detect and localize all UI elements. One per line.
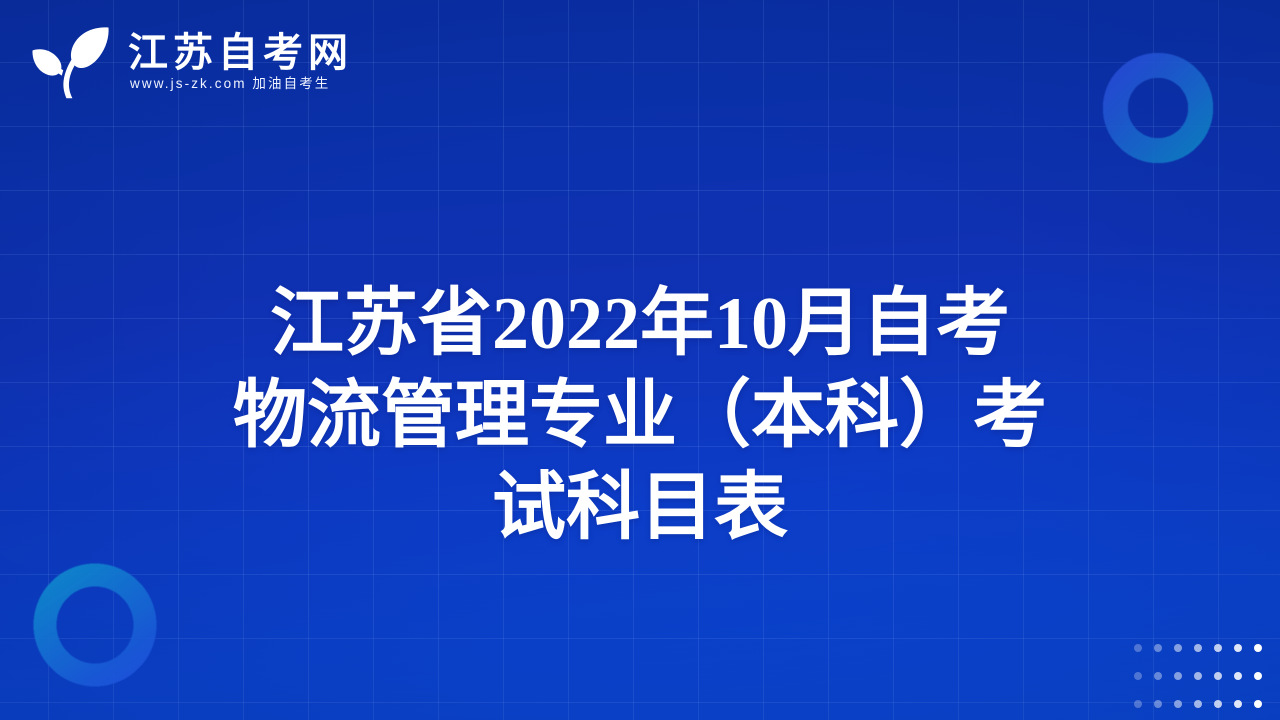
dot-grid-dot (1154, 672, 1162, 680)
dot-grid-dot (1214, 700, 1222, 708)
decorative-ring-top-right (1080, 30, 1236, 186)
dot-grid-dot (1254, 672, 1262, 680)
page-title-line-1: 江苏省2022年10月自考 (150, 278, 1130, 370)
page-title: 江苏省2022年10月自考 物流管理专业（本科）考 试科目表 (0, 278, 1280, 554)
dot-grid-dot (1234, 672, 1242, 680)
site-logo[interactable]: 江苏自考网 www.js-zk.com 加油自考生 (30, 24, 353, 100)
ring-gradient-stroke (1080, 30, 1236, 186)
dot-grid-dot (1254, 700, 1262, 708)
dot-grid-dot (1174, 644, 1182, 652)
dot-grid-dot (1214, 672, 1222, 680)
sprout-icon (30, 24, 114, 100)
poster-canvas: 江苏自考网 www.js-zk.com 加油自考生 江苏省2022年10月自考 … (0, 0, 1280, 720)
decorative-ring-bottom-left (8, 538, 182, 712)
dot-grid-dot (1174, 672, 1182, 680)
dot-grid-dot (1194, 672, 1202, 680)
dot-grid-dot (1254, 644, 1262, 652)
dot-grid-dot (1194, 644, 1202, 652)
logo-wordmark: 江苏自考网 (128, 32, 353, 75)
dot-grid-dot (1134, 672, 1142, 680)
dot-grid-dot (1214, 644, 1222, 652)
ring-gradient-stroke (8, 538, 182, 712)
logo-text-block: 江苏自考网 www.js-zk.com 加油自考生 (128, 32, 353, 92)
page-title-line-3: 试科目表 (150, 462, 1130, 554)
dot-grid-dot (1194, 700, 1202, 708)
dot-grid-dot (1134, 644, 1142, 652)
page-title-line-2: 物流管理专业（本科）考 (150, 370, 1130, 462)
logo-tagline: www.js-zk.com 加油自考生 (128, 77, 353, 92)
decorative-dot-grid (1128, 634, 1268, 718)
dot-grid-dot (1234, 644, 1242, 652)
dot-grid-dot (1154, 700, 1162, 708)
dot-grid-dot (1174, 700, 1182, 708)
dot-grid-dot (1134, 700, 1142, 708)
dot-grid-dot (1234, 700, 1242, 708)
dot-grid-dot (1154, 644, 1162, 652)
